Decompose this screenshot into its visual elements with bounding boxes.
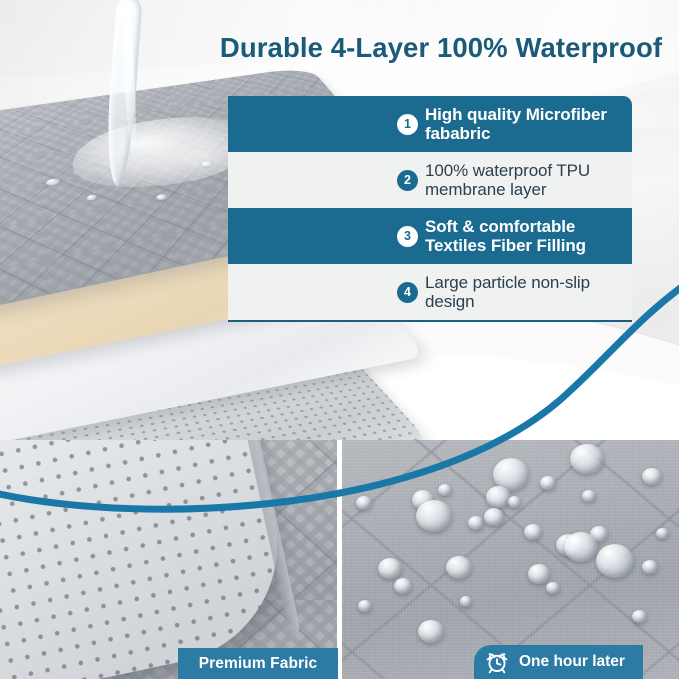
water-droplet xyxy=(632,610,647,623)
bottom-photo-strip xyxy=(0,440,679,679)
water-droplet xyxy=(394,578,412,594)
water-droplet xyxy=(570,444,604,474)
alarm-clock-icon xyxy=(484,649,510,675)
layer-callout-4-label: Large particle non-slip design xyxy=(425,273,620,311)
bullet-number-2: 2 xyxy=(397,170,418,191)
water-droplet xyxy=(486,486,511,508)
infographic-canvas: Durable 4-Layer 100% Waterproof 1 High q… xyxy=(0,0,679,679)
water-droplet xyxy=(656,528,669,539)
bullet-number-1: 1 xyxy=(397,114,418,135)
premium-fabric-caption-text: Premium Fabric xyxy=(199,655,318,673)
water-droplet xyxy=(460,596,472,607)
layer-callout-1-label: High quality Microfiber fababric xyxy=(425,105,620,143)
water-droplet xyxy=(642,560,658,574)
layer-callout-list: 1 High quality Microfiber fababric 2 100… xyxy=(228,96,632,322)
water-droplet xyxy=(418,620,444,643)
water-droplet xyxy=(528,564,550,584)
bullet-number-4: 4 xyxy=(397,282,418,303)
water-droplet xyxy=(540,476,556,490)
water-droplet xyxy=(358,600,372,612)
one-hour-later-caption: One hour later xyxy=(474,645,643,679)
water-droplet xyxy=(564,532,598,562)
water-droplet xyxy=(524,524,542,540)
water-droplet xyxy=(446,556,472,579)
page-title: Durable 4-Layer 100% Waterproof xyxy=(216,32,666,64)
layer-callout-3-label: Soft & comfortable Textiles Fiber Fillin… xyxy=(425,217,620,255)
premium-fabric-photo xyxy=(0,440,337,679)
layer-callout-1: 1 High quality Microfiber fababric xyxy=(228,96,632,152)
water-droplet xyxy=(484,508,504,526)
water-beading-photo xyxy=(342,440,679,679)
layer-callout-3: 3 Soft & comfortable Textiles Fiber Fill… xyxy=(228,208,632,264)
water-droplet xyxy=(596,544,634,578)
layer-callout-2: 2 100% waterproof TPU membrane layer xyxy=(228,152,632,208)
water-droplet xyxy=(378,558,402,579)
water-droplet xyxy=(508,496,521,508)
water-droplet xyxy=(642,468,662,485)
premium-fabric-caption: Premium Fabric xyxy=(178,648,338,679)
layer-callout-4: 4 Large particle non-slip design xyxy=(228,264,632,322)
water-droplet xyxy=(438,484,452,496)
one-hour-later-caption-text: One hour later xyxy=(519,653,625,671)
water-droplet xyxy=(468,516,484,530)
layer-callout-2-label: 100% waterproof TPU membrane layer xyxy=(425,161,620,199)
bullet-number-3: 3 xyxy=(397,226,418,247)
water-droplet xyxy=(356,496,372,510)
water-droplet xyxy=(546,582,560,594)
water-droplet xyxy=(582,490,596,502)
water-droplet xyxy=(416,500,452,532)
